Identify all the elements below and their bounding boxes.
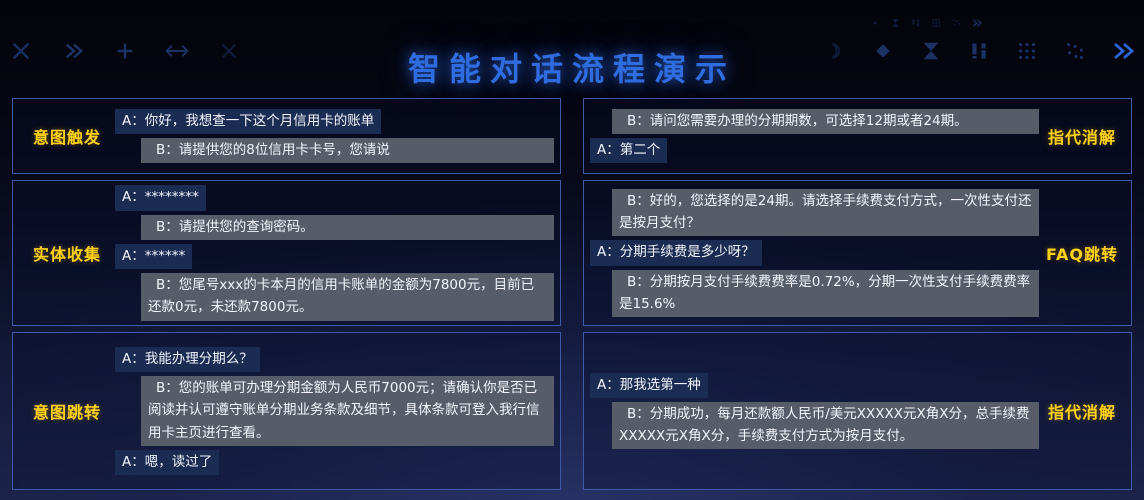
stage-entity-collection: 实体收集 A：******** B：请提供您的查询密码。 A：****** B：…	[12, 180, 561, 326]
message-bubble-a: A：嗯，读过了	[115, 450, 219, 475]
message-bubble-b: B：请提供您的查询密码。	[141, 215, 554, 240]
stage-anaphora-resolution-2: A：那我选第一种 B：分期成功，每月还款额人民币/美元XXXXX元X角X分，总手…	[583, 332, 1132, 490]
dialog-flow-board: 意图触发 A：你好，我想查一下这个月信用卡的账单 B：请提供您的8位信用卡卡号，…	[0, 98, 1144, 496]
message-bubble-a: A：********	[115, 185, 206, 210]
bar-pair-icon	[909, 16, 923, 30]
stage-intent-jump: 意图跳转 A：我能办理分期么？ B：您的账单可办理分期金额为人民币7000元；请…	[12, 332, 561, 490]
message-bubble-b: B：请提供您的8位信用卡卡号，您请说	[141, 138, 554, 163]
right-column: B：请问您需要办理的分期期数，可选择12期或者24期。 A：第二个 指代消解 B…	[583, 98, 1132, 496]
message-bubble-a: A：分期手续费是多少呀？	[590, 240, 762, 265]
hourglass-icon	[888, 16, 902, 30]
stage-label: 实体收集	[19, 241, 115, 265]
stage-label: 意图跳转	[19, 399, 115, 423]
decorative-icon-strip-top	[868, 16, 984, 30]
stage-label: 指代消解	[1039, 399, 1125, 423]
message-list: B：请问您需要办理的分期期数，可选择12期或者24期。 A：第二个	[590, 109, 1039, 164]
message-list: A：那我选第一种 B：分期成功，每月还款额人民币/美元XXXXX元X角X分，总手…	[590, 373, 1039, 450]
message-bubble-b: B：请问您需要办理的分期期数，可选择12期或者24期。	[612, 109, 1039, 134]
message-bubble-b: B：好的，您选择的是24期。请选择手续费支付方式，一次性支付还是按月支付？	[612, 189, 1039, 237]
double-chevron-right-icon	[970, 16, 984, 30]
stage-faq-jump: B：好的，您选择的是24期。请选择手续费支付方式，一次性支付还是按月支付？ A：…	[583, 180, 1132, 326]
stage-label: 指代消解	[1039, 124, 1125, 148]
message-list: A：你好，我想查一下这个月信用卡的账单 B：请提供您的8位信用卡卡号，您请说	[115, 109, 554, 164]
message-bubble-b: B：分期按月支付手续费费率是0.72%，分期一次性支付手续费费率是15.6%	[612, 270, 1039, 318]
message-bubble-b: B：分期成功，每月还款额人民币/美元XXXXX元X角X分，总手续费XXXXX元X…	[612, 402, 1039, 450]
dot-icon	[868, 16, 882, 30]
left-column: 意图触发 A：你好，我想查一下这个月信用卡的账单 B：请提供您的8位信用卡卡号，…	[12, 98, 561, 496]
message-bubble-a: A：那我选第一种	[590, 373, 708, 398]
message-bubble-a: A：******	[115, 244, 192, 269]
message-list: B：好的，您选择的是24期。请选择手续费支付方式，一次性支付还是按月支付？ A：…	[590, 189, 1039, 317]
stage-label: 意图触发	[19, 124, 115, 148]
stage-intent-trigger: 意图触发 A：你好，我想查一下这个月信用卡的账单 B：请提供您的8位信用卡卡号，…	[12, 98, 561, 174]
dot-cluster-icon	[949, 16, 963, 30]
stage-anaphora-resolution-1: B：请问您需要办理的分期期数，可选择12期或者24期。 A：第二个 指代消解	[583, 98, 1132, 174]
message-bubble-a: A：第二个	[590, 138, 667, 163]
message-list: A：******** B：请提供您的查询密码。 A：****** B：您尾号xx…	[115, 185, 554, 320]
message-list: A：我能办理分期么？ B：您的账单可办理分期金额为人民币7000元；请确认你是否…	[115, 347, 554, 475]
page-title: 智能对话流程演示	[0, 44, 1144, 90]
message-bubble-a: A：你好，我想查一下这个月信用卡的账单	[115, 109, 381, 134]
message-bubble-b: B：您的账单可办理分期金额为人民币7000元；请确认你是否已阅读并认可遵守账单分…	[141, 376, 554, 446]
stage-label: FAQ跳转	[1039, 241, 1125, 265]
message-bubble-a: A：我能办理分期么？	[115, 347, 260, 372]
message-bubble-b: B：您尾号xxx的卡本月的信用卡账单的金额为7800元，目前已还款0元，未还款7…	[141, 273, 554, 321]
dot-grid-icon	[929, 16, 943, 30]
